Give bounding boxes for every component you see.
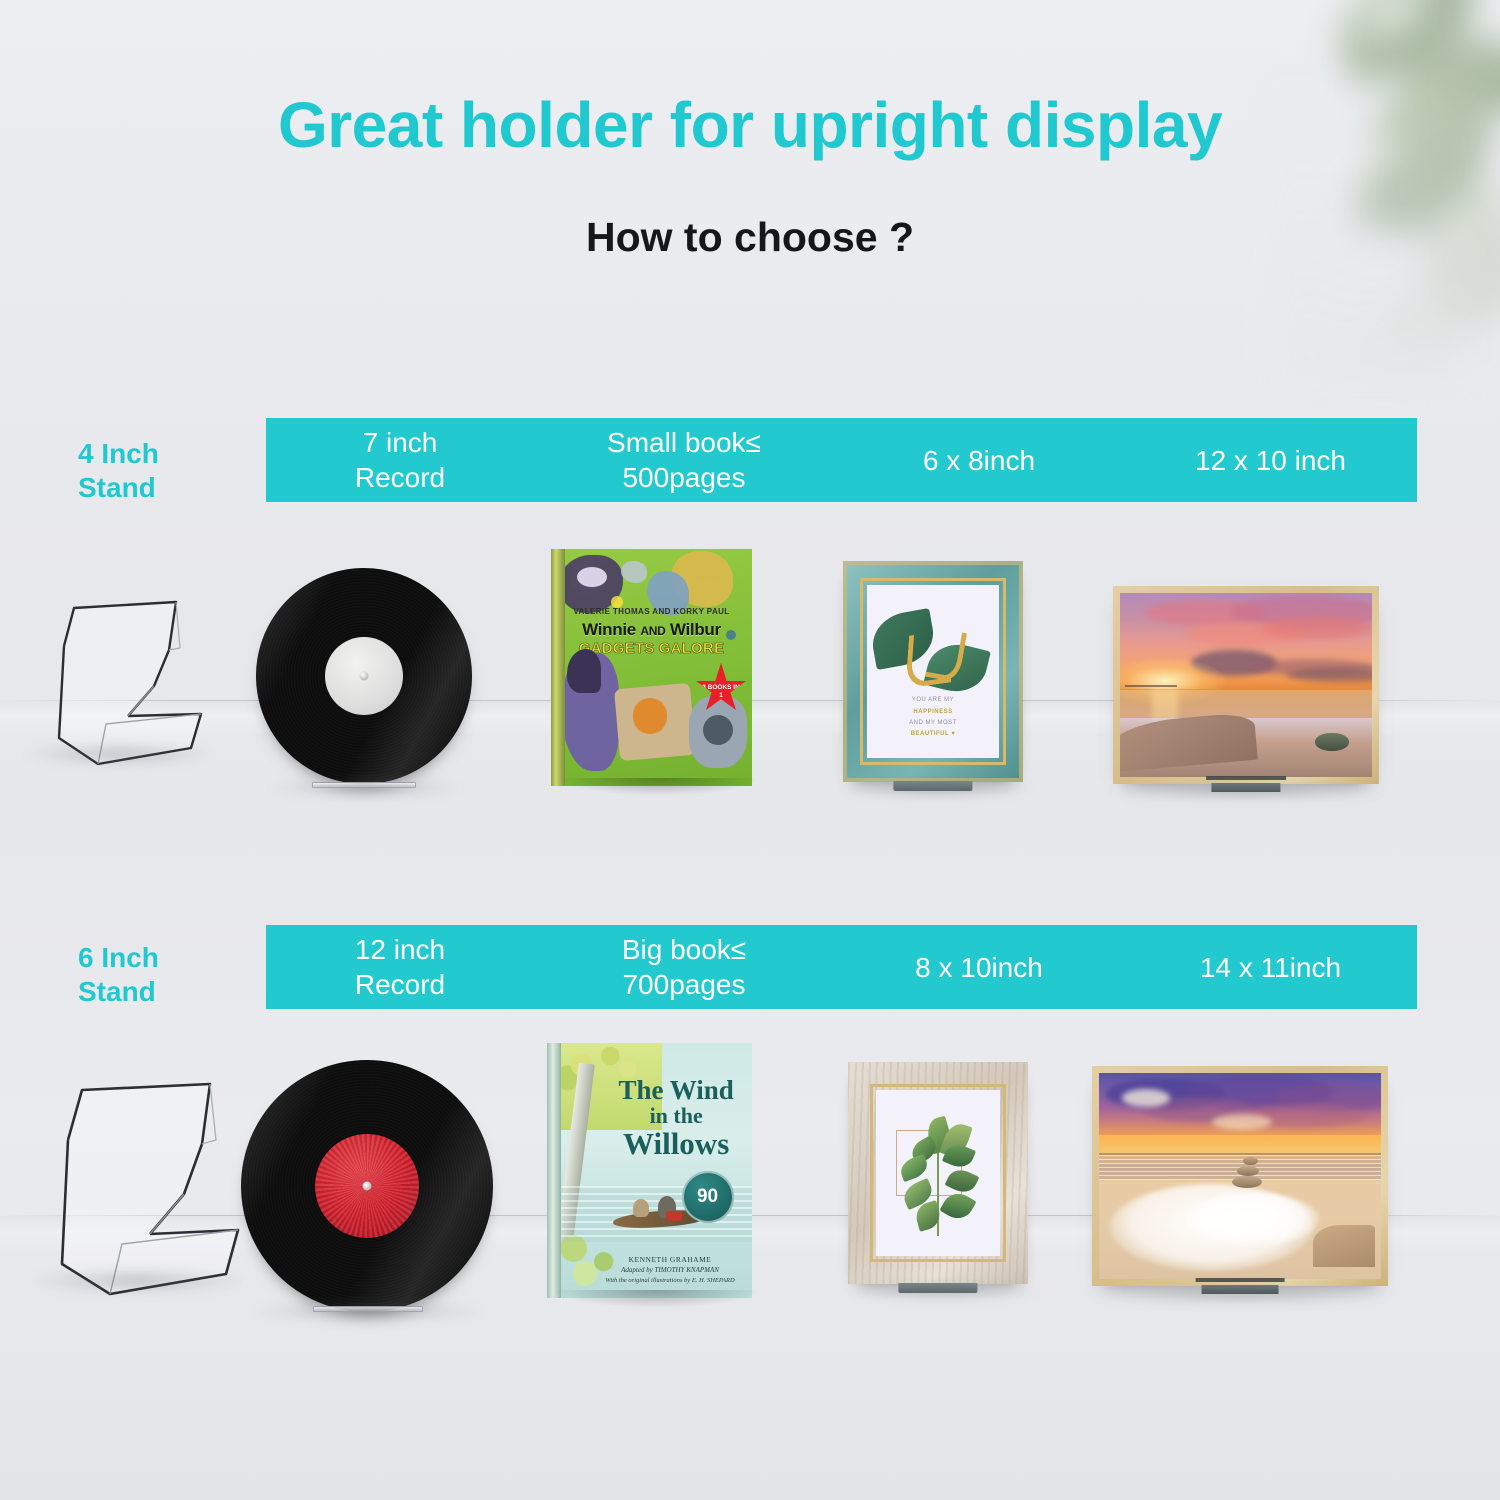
row-1-stand-label-line1: 4 Inch xyxy=(78,437,159,471)
book-1-spine xyxy=(551,549,565,786)
record-1-shadow xyxy=(268,778,464,798)
row-2-cell-1-line2: Record xyxy=(266,967,534,1002)
photo-1-image xyxy=(1120,593,1372,777)
page-title: Great holder for upright display xyxy=(0,88,1500,162)
frame-2-shadow xyxy=(843,1282,1039,1300)
acrylic-stand-6-inch xyxy=(38,1068,238,1296)
row-2-cell-4: 14 x 11inch xyxy=(1124,950,1417,985)
book-1-cover: VALERIE THOMAS AND KORKY PAUL Winnie AND… xyxy=(551,549,752,786)
frame-1-caption: YOU ARE MY HAPPINESS AND MY MOST BEAUTIF… xyxy=(867,695,999,741)
record-spindle-hole-2 xyxy=(363,1182,372,1191)
row-2-cell-4-line1: 14 x 11inch xyxy=(1124,950,1417,985)
photo-1-shadow xyxy=(1108,782,1386,800)
book-2-title: The Wind in the Willows xyxy=(609,1076,744,1160)
book-winnie-and-wilbur: VALERIE THOMAS AND KORKY PAUL Winnie AND… xyxy=(551,549,752,786)
record-spindle-hole xyxy=(360,672,369,681)
photo-2-shadow xyxy=(1088,1284,1394,1304)
landscape-photo-14x11 xyxy=(1092,1066,1388,1286)
frame-1-shadow xyxy=(838,780,1034,798)
vinyl-record-12-inch xyxy=(241,1060,493,1312)
row-1-cell-2: Small book≤ 500pages xyxy=(534,425,834,495)
row-2-cell-2-line2: 700pages xyxy=(534,967,834,1002)
stand-6-shadow xyxy=(26,1268,248,1294)
row-2-cell-3-line1: 8 x 10inch xyxy=(834,950,1124,985)
row-1-cell-3: 6 x 8inch xyxy=(834,443,1124,478)
book-2-anniversary-badge: 90 xyxy=(682,1171,734,1223)
row-2-stand-label: 6 Inch Stand xyxy=(78,941,159,1009)
book-2-cover: The Wind in the Willows 90 KENNETH GRAHA… xyxy=(547,1043,752,1298)
infographic-canvas: Great holder for upright display How to … xyxy=(0,0,1500,1500)
row-2-banner: 12 inch Record Big book≤ 700pages 8 x 10… xyxy=(266,925,1417,1009)
acrylic-stand-4-inch xyxy=(36,588,201,766)
row-1-cell-3-line1: 6 x 8inch xyxy=(834,443,1124,478)
row-1-cell-1-line1: 7 inch xyxy=(266,425,534,460)
page-subtitle: How to choose ? xyxy=(0,214,1500,261)
photo-1-base-bar xyxy=(1206,776,1286,780)
row-2-cell-1-line1: 12 inch xyxy=(266,932,534,967)
book-1-authors: VALERIE THOMAS AND KORKY PAUL xyxy=(551,607,752,616)
row-1-stand-label-line2: Stand xyxy=(78,471,159,505)
book-2-spine xyxy=(547,1043,561,1298)
stand-4-shadow xyxy=(24,742,214,766)
book-1-title: Winnie AND Wilbur xyxy=(551,620,752,640)
blurred-plant-decoration xyxy=(1270,0,1500,390)
row-2-cell-2-line1: Big book≤ xyxy=(534,932,834,967)
row-2-stand-label-line2: Stand xyxy=(78,975,159,1009)
row-2-cell-1: 12 inch Record xyxy=(266,932,534,1002)
row-2-stand-label-line1: 6 Inch xyxy=(78,941,159,975)
row-2-cell-3: 8 x 10inch xyxy=(834,950,1124,985)
row-1-cell-2-line2: 500pages xyxy=(534,460,834,495)
book-2-credits: KENNETH GRAHAME Adapted by TIMOTHY KNAPM… xyxy=(596,1254,744,1286)
record-center-label xyxy=(325,637,403,715)
record-center-label-red xyxy=(315,1134,419,1238)
row-1-stand-label: 4 Inch Stand xyxy=(78,437,159,505)
frame-1-artwork: YOU ARE MY HAPPINESS AND MY MOST BEAUTIF… xyxy=(867,585,999,758)
landscape-photo-12x10 xyxy=(1113,586,1379,784)
photo-frame-8x10 xyxy=(848,1062,1028,1284)
book-wind-in-the-willows: The Wind in the Willows 90 KENNETH GRAHA… xyxy=(547,1043,752,1298)
row-1-cell-4-line1: 12 x 10 inch xyxy=(1124,443,1417,478)
row-1-cell-2-line1: Small book≤ xyxy=(534,425,834,460)
record-2-shadow xyxy=(252,1300,484,1322)
row-1-cell-1-line2: Record xyxy=(266,460,534,495)
row-2-cell-2: Big book≤ 700pages xyxy=(534,932,834,1002)
frame-2-artwork xyxy=(876,1090,1000,1256)
row-1-banner: 7 inch Record Small book≤ 500pages 6 x 8… xyxy=(266,418,1417,502)
row-1-cell-1: 7 inch Record xyxy=(266,425,534,495)
photo-2-base-bar xyxy=(1196,1278,1285,1282)
row-1-cell-4: 12 x 10 inch xyxy=(1124,443,1417,478)
vinyl-record-7-inch xyxy=(256,568,472,784)
photo-2-image xyxy=(1099,1073,1381,1279)
photo-frame-6x8: YOU ARE MY HAPPINESS AND MY MOST BEAUTIF… xyxy=(843,561,1023,782)
